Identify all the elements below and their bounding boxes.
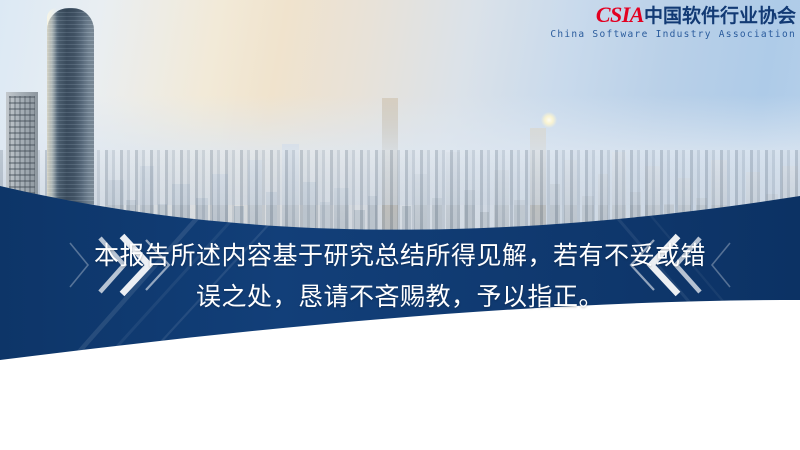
- slide-root: 本报告所述内容基于研究总结所得见解，若有不妥或错 误之处，恳请不吝赐教，予以指正…: [0, 0, 800, 450]
- csia-chinese-name: 中国软件行业协会: [644, 6, 796, 27]
- csia-logo: CSIA中国软件行业协会 China Software Industry Ass…: [550, 4, 796, 40]
- sun-glint: [541, 112, 557, 128]
- csia-english-name: China Software Industry Association: [550, 30, 796, 40]
- banner-statement-text: 本报告所述内容基于研究总结所得见解，若有不妥或错 误之处，恳请不吝赐教，予以指正…: [0, 236, 800, 318]
- city-skyline-photo: [0, 0, 800, 270]
- csia-acronym: CSIA: [596, 2, 644, 27]
- csia-logo-main: CSIA中国软件行业协会: [596, 4, 796, 28]
- banner-text-line-1: 本报告所述内容基于研究总结所得见解，若有不妥或错: [0, 236, 800, 277]
- banner-text-line-2: 误之处，恳请不吝赐教，予以指正。: [0, 277, 800, 318]
- hero-skyscraper-glow: [47, 8, 57, 270]
